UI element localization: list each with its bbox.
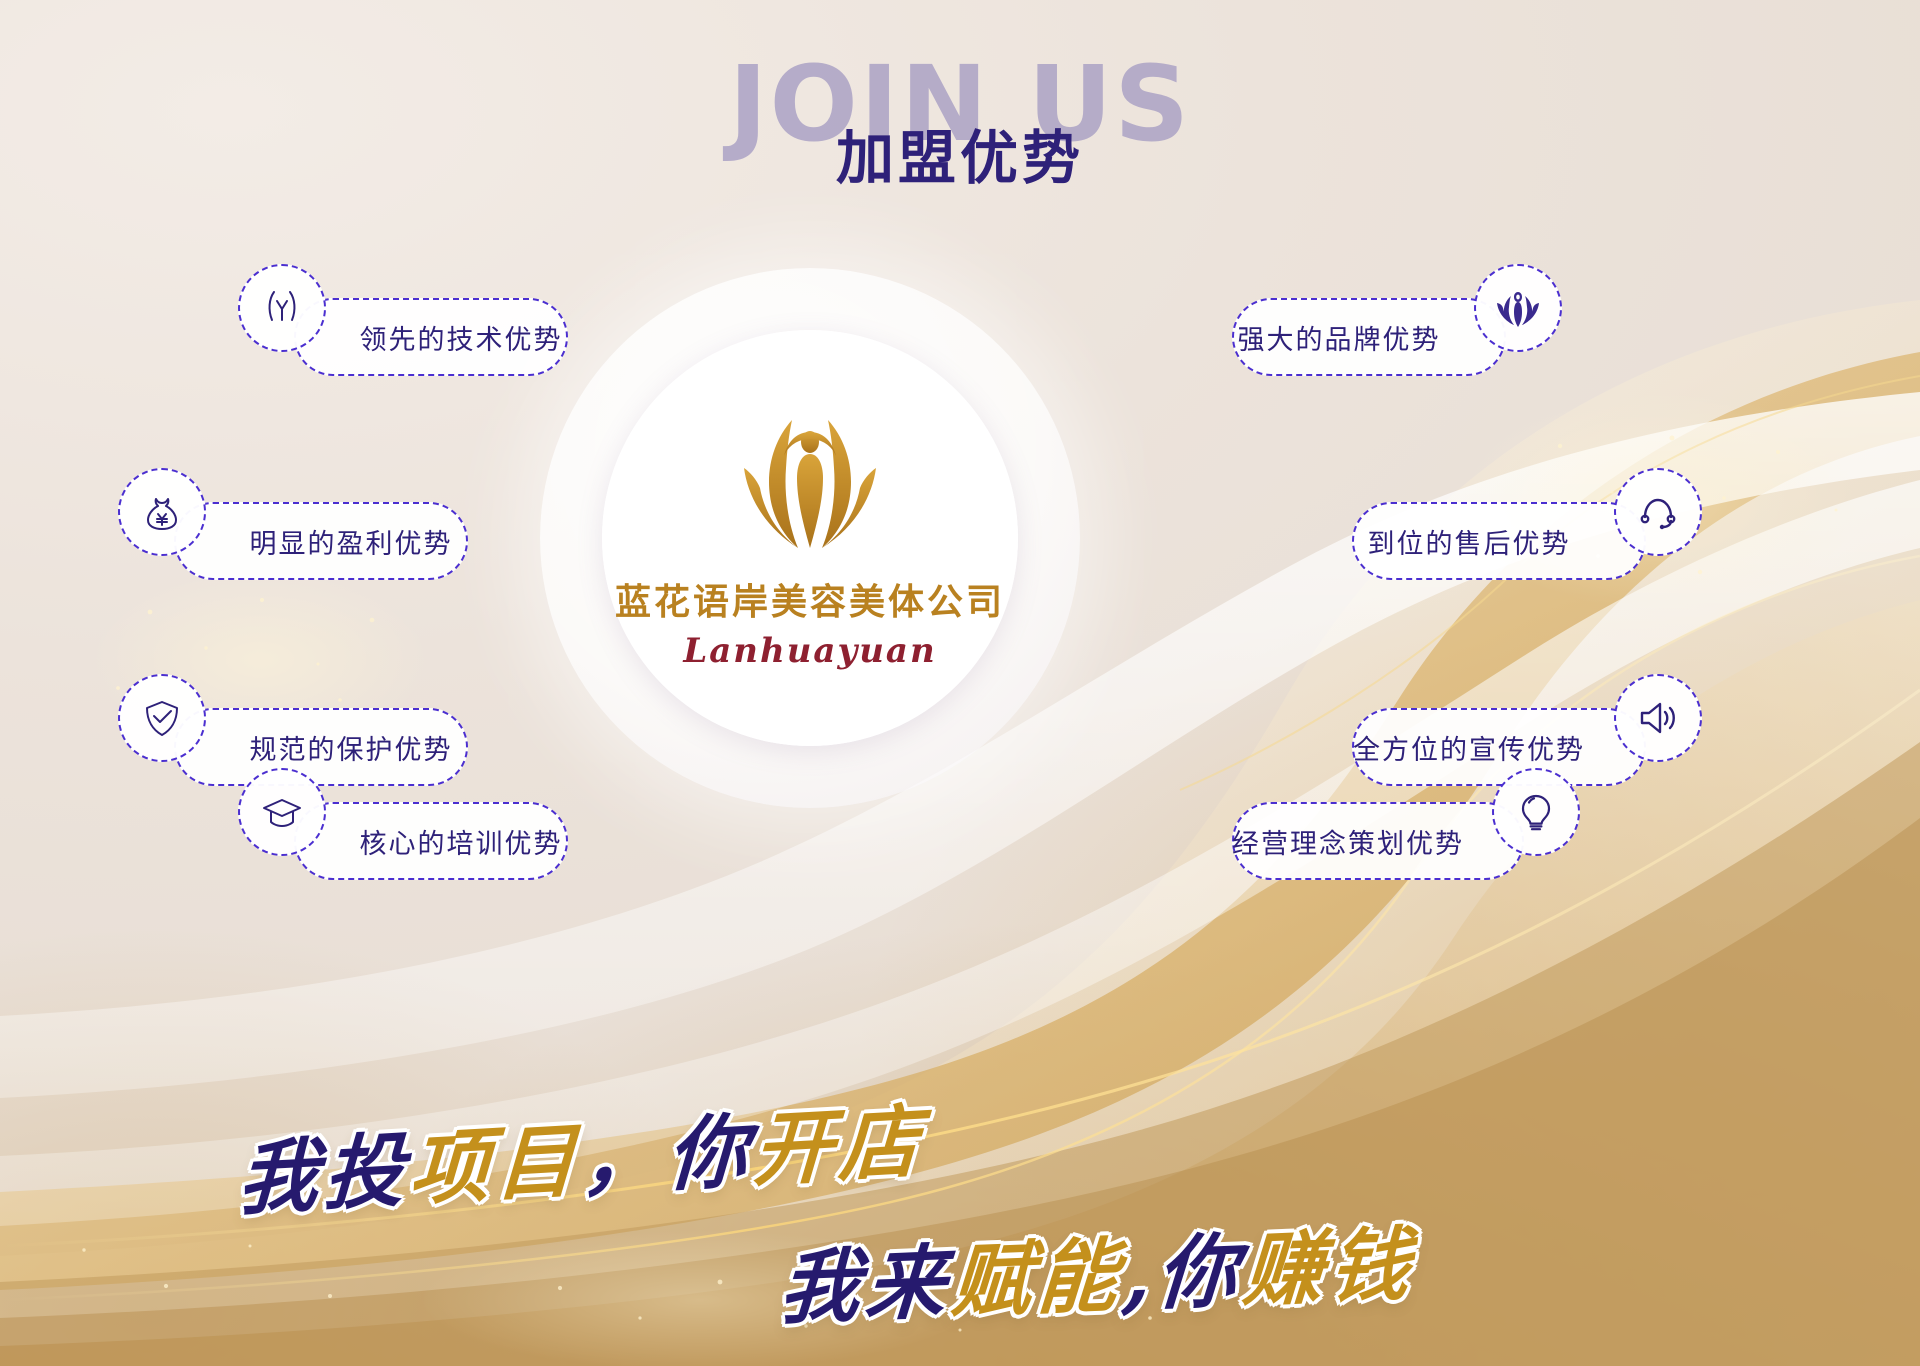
feature-item-left-4[interactable]: 核心的培训优势 <box>238 802 568 880</box>
speaker-megaphone-icon <box>1614 674 1702 762</box>
feature-pill-bar[interactable]: 全方位的宣传优势 <box>1352 708 1646 786</box>
feature-item-right-2[interactable]: 到位的售后优势 <box>1352 502 1702 580</box>
feature-pill-bar[interactable]: 规范的保护优势 <box>174 708 468 786</box>
feature-pill-bar[interactable]: 明显的盈利优势 <box>174 502 468 580</box>
feature-label: 核心的培训优势 <box>360 822 563 861</box>
slogan-segment: 赋能 <box>948 1211 1128 1334</box>
slogan-line-2: 我来赋能,你赚钱 <box>778 1200 1418 1340</box>
lotus-figure-logo-icon <box>722 406 898 563</box>
feature-label: 到位的售后优势 <box>1368 522 1571 561</box>
slogan-segment: 项目 <box>407 1096 584 1222</box>
slogan-segment: 赚钱 <box>1240 1200 1420 1323</box>
graduation-cap-icon <box>238 768 326 856</box>
feature-label: 规范的保护优势 <box>250 728 453 767</box>
lightbulb-idea-icon <box>1492 768 1580 856</box>
logo-company-name-en: Lanhuayuan <box>683 631 936 671</box>
slogan-segment: 我投 <box>236 1105 413 1231</box>
slogan-segment: ，你 <box>579 1086 756 1212</box>
slogan-segment: 我来 <box>776 1217 956 1340</box>
center-logo-medallion: 蓝花语岸美容美体公司 Lanhuayuan <box>540 268 1080 808</box>
headset-support-icon <box>1614 468 1702 556</box>
feature-item-right-1[interactable]: 强大的品牌优势 <box>1232 298 1562 376</box>
money-bag-yen-icon <box>118 468 206 556</box>
poster-canvas: JOIN US 加盟优势 <box>0 0 1920 1366</box>
feature-pill-bar[interactable]: 领先的技术优势 <box>294 298 568 376</box>
logo-company-name-zh: 蓝花语岸美容美体公司 <box>615 573 1005 625</box>
feature-pill-bar[interactable]: 经营理念策划优势 <box>1232 802 1524 880</box>
feature-item-left-2[interactable]: 明显的盈利优势 <box>118 502 468 580</box>
lotus-brand-icon <box>1474 264 1562 352</box>
feature-label: 强大的品牌优势 <box>1238 318 1441 357</box>
shield-check-icon <box>118 674 206 762</box>
feature-label: 经营理念策划优势 <box>1232 822 1464 861</box>
slogan-segment: ,你 <box>1120 1206 1248 1327</box>
feature-item-right-4[interactable]: 经营理念策划优势 <box>1232 802 1580 880</box>
feature-label: 领先的技术优势 <box>360 318 563 357</box>
feature-pill-bar[interactable]: 核心的培训优势 <box>294 802 568 880</box>
feature-label: 明显的盈利优势 <box>250 522 453 561</box>
slogan-segment: 开店 <box>751 1077 928 1203</box>
feature-pill-bar[interactable]: 强大的品牌优势 <box>1232 298 1506 376</box>
page-header: JOIN US 加盟优势 <box>0 52 1920 212</box>
body-shape-icon <box>238 264 326 352</box>
logo-inner-circle: 蓝花语岸美容美体公司 Lanhuayuan <box>602 330 1018 746</box>
feature-pill-bar[interactable]: 到位的售后优势 <box>1352 502 1646 580</box>
feature-label: 全方位的宣传优势 <box>1353 728 1585 767</box>
page-title: 加盟优势 <box>0 130 1920 188</box>
feature-item-left-1[interactable]: 领先的技术优势 <box>238 298 568 376</box>
